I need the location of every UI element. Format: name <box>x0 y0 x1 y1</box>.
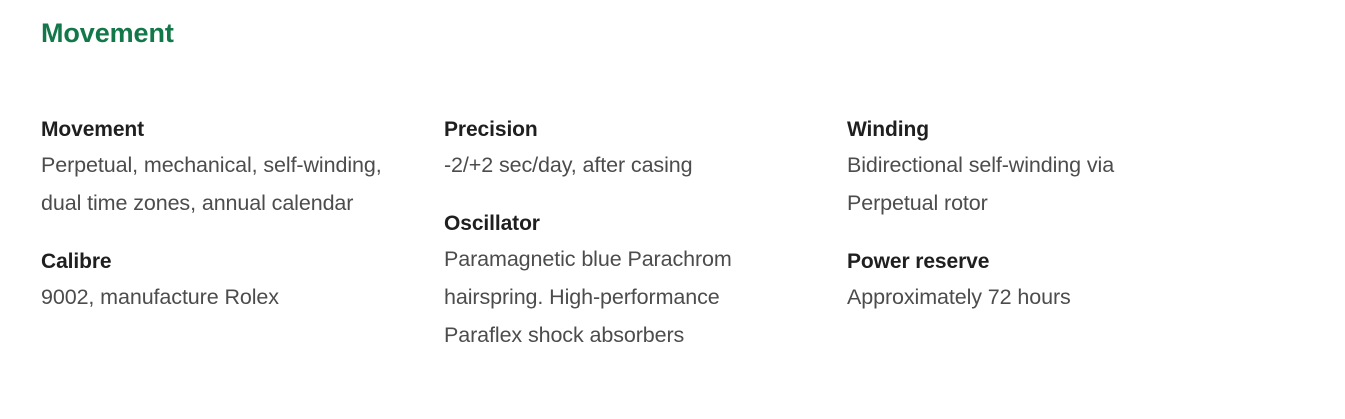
spec-entry: Movement Perpetual, mechanical, self-win… <box>41 114 391 222</box>
spec-column-precision: Precision -2/+2 sec/day, after casing Os… <box>444 114 794 354</box>
specification-columns: Movement Perpetual, mechanical, self-win… <box>41 114 1345 354</box>
spec-label: Precision <box>444 114 794 146</box>
spec-entry: Winding Bidirectional self-winding via P… <box>847 114 1197 222</box>
spec-entry: Power reserve Approximately 72 hours <box>847 246 1197 316</box>
spec-value: Paramagnetic blue Parachrom hairspring. … <box>444 240 794 354</box>
spec-column-movement: Movement Perpetual, mechanical, self-win… <box>41 114 391 316</box>
spec-label: Calibre <box>41 246 391 278</box>
spec-label: Oscillator <box>444 208 794 240</box>
spec-label: Winding <box>847 114 1197 146</box>
spec-value: Perpetual, mechanical, self-winding, dua… <box>41 146 391 222</box>
spec-column-winding: Winding Bidirectional self-winding via P… <box>847 114 1197 316</box>
spec-label: Power reserve <box>847 246 1197 278</box>
spec-entry: Oscillator Paramagnetic blue Parachrom h… <box>444 208 794 354</box>
spec-value: Approximately 72 hours <box>847 278 1197 316</box>
spec-entry: Precision -2/+2 sec/day, after casing <box>444 114 794 184</box>
spec-value: -2/+2 sec/day, after casing <box>444 146 794 184</box>
spec-label: Movement <box>41 114 391 146</box>
spec-entry: Calibre 9002, manufacture Rolex <box>41 246 391 316</box>
movement-specifications-section: Movement Movement Perpetual, mechanical,… <box>0 0 1345 419</box>
page-title: Movement <box>41 16 1345 50</box>
spec-value: 9002, manufacture Rolex <box>41 278 391 316</box>
spec-value: Bidirectional self-winding via Perpetual… <box>847 146 1197 222</box>
